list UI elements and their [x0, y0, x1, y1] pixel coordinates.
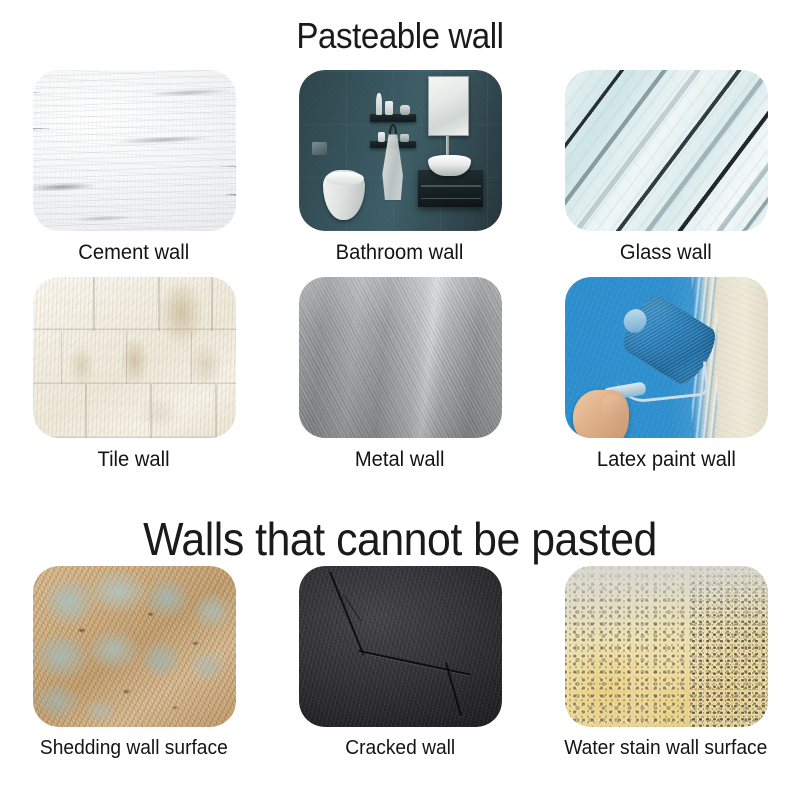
wall-dispenser-icon: [312, 142, 327, 155]
thumbnail-bathroom-wall[interactable]: [299, 70, 502, 231]
latex-paint-wall-image: [565, 277, 768, 438]
card-latex-paint-wall[interactable]: Latex paint wall: [533, 277, 799, 472]
thumbnail-shedding-wall-surface[interactable]: [33, 566, 236, 727]
cement-wall-image: [33, 70, 236, 231]
mirror-icon: [428, 76, 469, 136]
card-tile-wall[interactable]: Tile wall: [1, 277, 267, 472]
page-title-pasteable: Pasteable wall: [32, 14, 768, 58]
page-title-not-pasteable: Walls that cannot be pasted: [28, 511, 772, 567]
shelf-upper: [370, 114, 417, 122]
caption-shedding-wall-surface: Shedding wall surface: [40, 736, 228, 761]
caption-water-stain-wall-surface: Water stain wall surface: [564, 736, 767, 761]
bathroom-scene-layer: [299, 70, 502, 231]
caption-latex-paint-wall: Latex paint wall: [597, 447, 736, 472]
card-metal-wall[interactable]: Metal wall: [267, 277, 533, 472]
not-pasteable-wall-section: Shedding wall surface Cracked wall: [0, 566, 800, 786]
shedding-wall-image: [33, 566, 236, 727]
caption-tile-wall: Tile wall: [98, 447, 170, 472]
thumbnail-water-stain-wall-surface[interactable]: [565, 566, 768, 727]
thumbnail-latex-paint-wall[interactable]: [565, 277, 768, 438]
thumbnail-cracked-wall[interactable]: [299, 566, 502, 727]
card-glass-wall[interactable]: Glass wall: [533, 70, 799, 265]
card-shedding-wall-surface[interactable]: Shedding wall surface: [1, 566, 267, 761]
jar-icon: [400, 134, 409, 142]
tile-wall-image: [33, 277, 236, 438]
glass-wall-image: [565, 70, 768, 231]
water-stain-wall-image: [565, 566, 768, 727]
thumbnail-glass-wall[interactable]: [565, 70, 768, 231]
card-water-stain-wall-surface[interactable]: Water stain wall surface: [533, 566, 799, 761]
card-cement-wall[interactable]: Cement wall: [1, 70, 267, 265]
bottle-icon: [376, 93, 382, 116]
crack-line: [359, 650, 471, 675]
bottle-icon: [378, 132, 385, 142]
pasteable-wall-section: Cement wall: [0, 70, 800, 490]
cracked-wall-image: [299, 566, 502, 727]
card-bathroom-wall[interactable]: Bathroom wall: [267, 70, 533, 265]
pasteable-row-1: Cement wall: [0, 70, 800, 265]
bathroom-wall-image: [299, 70, 502, 231]
hand-icon: [573, 390, 630, 438]
thumbnail-metal-wall[interactable]: [299, 277, 502, 438]
jar-icon: [400, 105, 410, 115]
crack-line: [343, 595, 362, 622]
caption-cracked-wall: Cracked wall: [345, 736, 455, 761]
tile-stains: [33, 277, 236, 438]
thumbnail-tile-wall[interactable]: [33, 277, 236, 438]
caption-cement-wall: Cement wall: [79, 240, 190, 265]
caption-bathroom-wall: Bathroom wall: [336, 240, 464, 265]
not-pasteable-row-1: Shedding wall surface Cracked wall: [0, 566, 800, 761]
top-haze-overlay: [565, 566, 768, 727]
metal-wall-image: [299, 277, 502, 438]
caption-glass-wall: Glass wall: [620, 240, 712, 265]
toilet-icon: [323, 170, 366, 220]
crack-line: [329, 572, 364, 656]
pasteable-row-2: Tile wall Metal wall: [0, 277, 800, 472]
poster-root: Pasteable wall Cement wall: [0, 0, 800, 800]
thumbnail-cement-wall[interactable]: [33, 70, 236, 231]
card-cracked-wall[interactable]: Cracked wall: [267, 566, 533, 761]
caption-metal-wall: Metal wall: [355, 447, 445, 472]
bottle-icon: [385, 101, 393, 115]
